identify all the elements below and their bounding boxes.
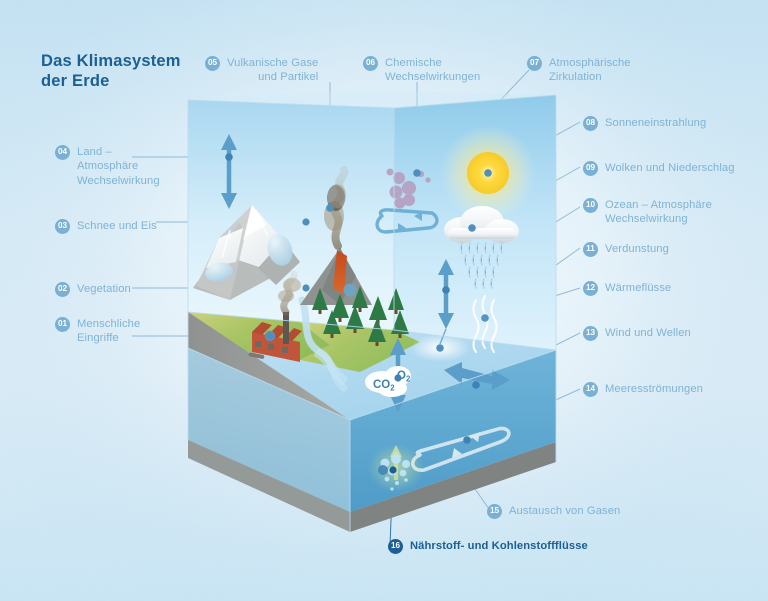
hotspot-09[interactable] (468, 224, 476, 232)
legend-number-badge: 05 (205, 56, 220, 71)
legend-item-label: Nährstoff- und Kohlenstoffflüsse (410, 538, 588, 553)
legend-item-label: Wind und Wellen (605, 325, 691, 340)
legend-item-label: Land – Atmosphäre Wechselwirkung (77, 144, 160, 188)
legend-item-label: Wärmeflüsse (605, 280, 671, 295)
legend-item-label: Austausch von Gasen (509, 503, 620, 518)
legend-number-badge: 08 (583, 116, 598, 131)
legend-item-label: Schnee und Eis (77, 218, 157, 233)
legend-item-label: Atmosphärische Zirkulation (549, 55, 631, 85)
hotspot-14[interactable] (463, 436, 471, 444)
hotspot-03[interactable] (302, 218, 309, 225)
hotspot-11[interactable] (436, 344, 444, 352)
legend-number-badge: 14 (583, 382, 598, 397)
page-title: Das Klimasystem der Erde (41, 51, 181, 91)
hotspot-08[interactable] (484, 169, 492, 177)
legend-item-label: Menschliche Eingriffe (77, 316, 140, 346)
hotspot-02[interactable] (302, 284, 309, 291)
legend-item-label: Meeresströmungen (605, 381, 703, 396)
hotspot-10[interactable] (442, 286, 450, 294)
legend-number-badge: 10 (583, 198, 598, 213)
legend-item-07[interactable]: 07Atmosphärische Zirkulation (527, 55, 631, 85)
hotspot-16[interactable] (389, 466, 396, 473)
legend-item-label: Sonneneinstrahlung (605, 115, 706, 130)
legend-item-label: Vegetation (77, 281, 131, 296)
legend-item-12[interactable]: 12Wärmeflüsse (583, 280, 671, 296)
legend-item-03[interactable]: 03Schnee und Eis (55, 218, 157, 234)
legend-item-11[interactable]: 11Verdunstung (583, 241, 669, 257)
sun-icon (440, 125, 536, 221)
legend-item-label: Ozean – Atmosphäre Wechselwirkung (605, 197, 712, 227)
legend-number-badge: 01 (55, 317, 70, 332)
legend-number-badge: 12 (583, 281, 598, 296)
hotspot-13[interactable] (472, 381, 480, 389)
legend-item-15[interactable]: 15Austausch von Gasen (487, 503, 620, 519)
legend-item-label: Vulkanische Gase und Partikel (227, 55, 318, 85)
hotspot-01[interactable] (267, 333, 274, 340)
legend-number-badge: 09 (583, 161, 598, 176)
legend-item-09[interactable]: 09Wolken und Niederschlag (583, 160, 735, 176)
legend-number-badge: 02 (55, 282, 70, 297)
legend-number-badge: 11 (583, 242, 598, 257)
hotspot-04[interactable] (225, 153, 233, 161)
legend-item-01[interactable]: 01Menschliche Eingriffe (55, 316, 140, 346)
legend-item-05[interactable]: 05Vulkanische Gase und Partikel (205, 55, 318, 85)
legend-item-02[interactable]: 02Vegetation (55, 281, 131, 297)
legend-item-label: Verdunstung (605, 241, 669, 256)
legend-item-13[interactable]: 13Wind und Wellen (583, 325, 691, 341)
hotspot-05[interactable] (326, 204, 334, 212)
nutrient-particles-icon (368, 444, 424, 492)
legend-item-label: Wolken und Niederschlag (605, 160, 735, 175)
legend-number-badge: 07 (527, 56, 542, 71)
hotspot-12[interactable] (481, 314, 489, 322)
legend-item-06[interactable]: 06Chemische Wechselwirkungen (363, 55, 480, 85)
legend-item-14[interactable]: 14Meeresströmungen (583, 381, 703, 397)
legend-number-badge: 13 (583, 326, 598, 341)
legend-item-label: Chemische Wechselwirkungen (385, 55, 480, 85)
infographic-canvas: CO2 O2 Das Klimasystem der Erde 01Mensch… (0, 0, 768, 601)
legend-item-10[interactable]: 10Ozean – Atmosphäre Wechselwirkung (583, 197, 712, 227)
legend-number-badge: 16 (388, 539, 403, 554)
legend-item-08[interactable]: 08Sonneneinstrahlung (583, 115, 706, 131)
hotspot-06[interactable] (413, 169, 421, 177)
legend-number-badge: 15 (487, 504, 502, 519)
legend-number-badge: 06 (363, 56, 378, 71)
legend-number-badge: 03 (55, 219, 70, 234)
legend-number-badge: 04 (55, 145, 70, 160)
legend-item-16[interactable]: 16Nährstoff- und Kohlenstoffflüsse (388, 538, 588, 554)
legend-item-04[interactable]: 04Land – Atmosphäre Wechselwirkung (55, 144, 160, 188)
